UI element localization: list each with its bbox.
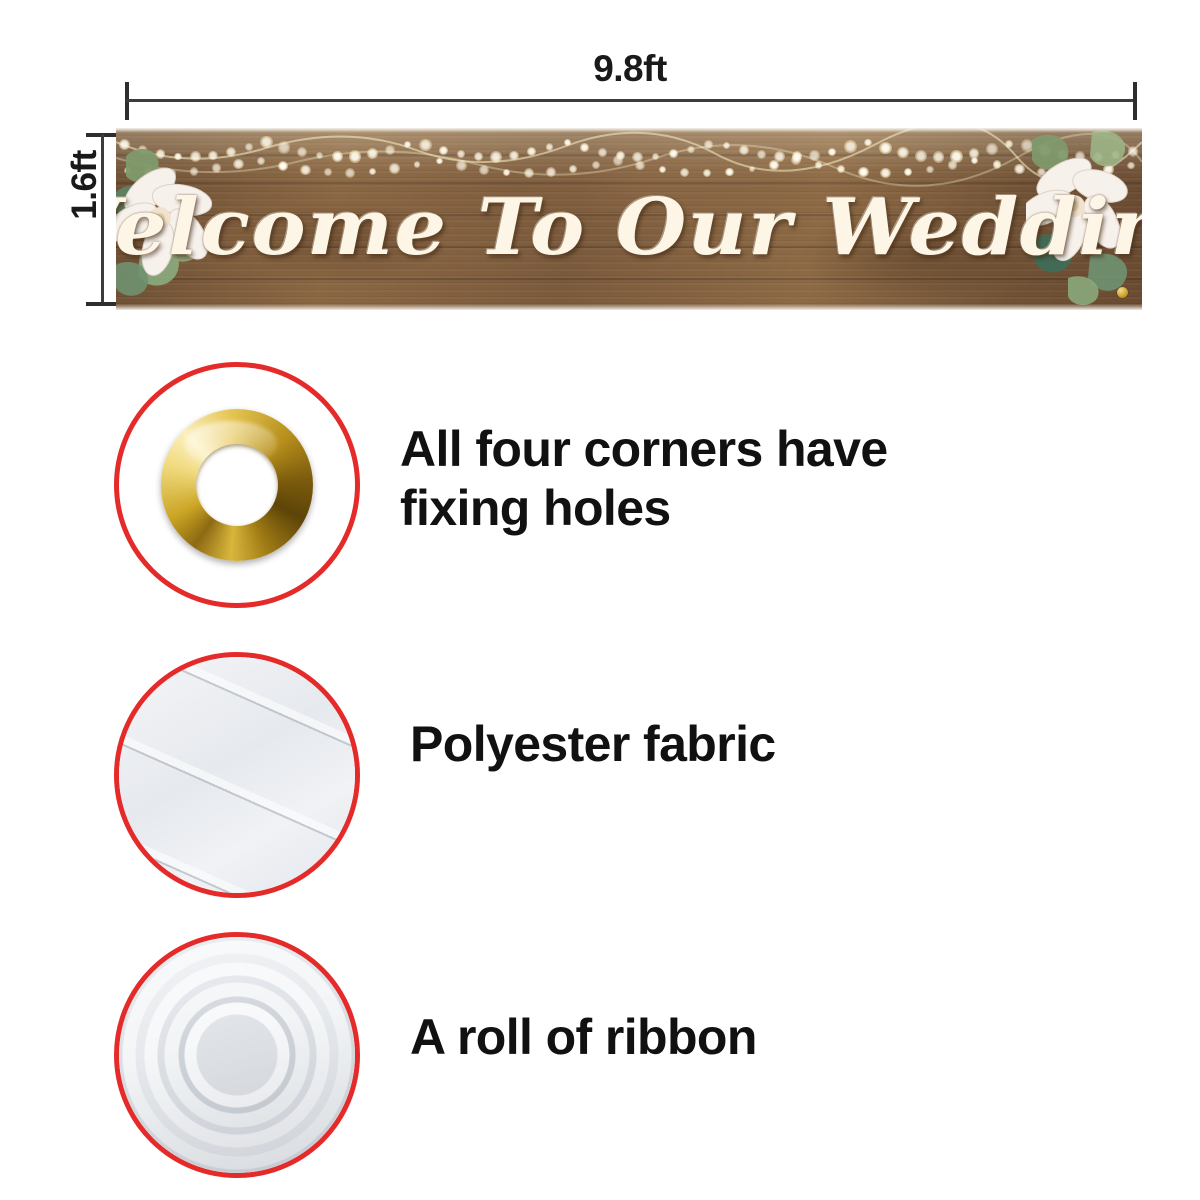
ribbon-roll-icon: [114, 932, 360, 1178]
light-bulb-icon: [815, 161, 823, 169]
banner-title: Welcome To Our Wedding: [116, 172, 1142, 282]
light-bulb-icon: [858, 167, 869, 178]
light-bulb-icon: [419, 139, 432, 152]
light-bulb-icon: [669, 149, 678, 158]
light-bulb-icon: [592, 161, 600, 169]
light-bulb-icon: [439, 146, 448, 155]
light-bulb-icon: [792, 151, 803, 162]
grommet-hole: [196, 444, 278, 526]
light-bulb-icon: [969, 148, 980, 159]
light-bulb-icon: [479, 165, 489, 175]
light-bulb-icon: [414, 161, 421, 168]
light-bulb-icon: [704, 140, 713, 149]
light-bulb-icon: [385, 145, 395, 155]
light-bulb-icon: [749, 166, 755, 172]
fabric-texture-art: [119, 657, 355, 893]
height-dimension-bottom-cap: [86, 302, 120, 306]
light-bulb-icon: [993, 160, 1002, 169]
light-bulb-icon: [456, 160, 467, 171]
light-bulb-icon: [926, 166, 933, 173]
light-bulb-icon: [1014, 164, 1025, 175]
light-bulb-icon: [837, 165, 845, 173]
fabric-swatch-icon: [114, 652, 360, 898]
grommet-icon: [114, 362, 360, 608]
feature-label-line-1: Polyester fabric: [410, 715, 1070, 774]
string-lights-glow: [116, 128, 1142, 186]
light-bulb-icon: [725, 168, 734, 177]
light-bulb-icon: [659, 166, 666, 173]
light-bulb-icon: [757, 150, 766, 159]
width-dimension-right-cap: [1133, 82, 1137, 120]
light-bulb-icon: [844, 140, 857, 153]
light-bulb-icon: [1005, 140, 1013, 148]
light-bulb-icon: [971, 157, 978, 164]
light-bulb-icon: [933, 151, 944, 162]
light-bulb-icon: [457, 150, 466, 159]
feature-label-line-1: All four corners have: [400, 420, 1060, 479]
light-bulb-icon: [324, 168, 332, 176]
light-bulb-icon: [332, 151, 343, 162]
light-bulb-icon: [490, 151, 502, 163]
feature-label-polyester-fabric: Polyester fabric: [410, 715, 1070, 774]
flower-right-icon: [1026, 128, 1142, 308]
flower-left-icon: [116, 134, 250, 310]
light-bulb-icon: [297, 147, 307, 157]
light-bulb-icon: [791, 155, 801, 165]
light-bulb-icon: [349, 150, 362, 163]
light-bulb-icon: [880, 168, 891, 179]
light-bulb-icon: [652, 153, 660, 161]
light-bulb-icon: [546, 143, 554, 151]
light-bulb-icon: [879, 142, 892, 155]
light-bulb-icon: [897, 147, 909, 159]
light-bulb-icon: [687, 146, 694, 153]
light-bulb-icon: [278, 161, 288, 171]
light-bulb-icon: [569, 165, 577, 173]
light-bulb-icon: [564, 139, 571, 146]
light-bulb-icon: [635, 161, 645, 171]
light-bulb-icon: [509, 151, 518, 160]
feature-label-line-1: A roll of ribbon: [410, 1008, 1070, 1067]
height-dimension-label: 1.6ft: [65, 130, 105, 240]
light-bulb-icon: [828, 148, 836, 156]
light-bulb-icon: [613, 155, 623, 165]
light-bulb-icon: [345, 168, 356, 179]
banner-title-text: Welcome To Our Wedding: [116, 182, 1142, 273]
light-bulb-icon: [915, 150, 927, 162]
light-bulb-icon: [950, 150, 963, 163]
light-bulb-icon: [723, 142, 730, 149]
light-bulb-icon: [260, 136, 273, 149]
feature-label-line-2: fixing holes: [400, 479, 1060, 538]
width-dimension-label: 9.8ft: [500, 48, 760, 90]
light-bulb-icon: [774, 151, 785, 162]
banner-top-edge: [116, 128, 1142, 133]
light-bulb-icon: [546, 167, 557, 178]
light-bulb-icon: [278, 141, 290, 153]
wedding-banner-image: Welcome To Our Wedding: [116, 128, 1142, 310]
light-bulb-icon: [864, 139, 872, 147]
light-bulb-icon: [527, 147, 536, 156]
height-dimension-line: [101, 134, 104, 306]
light-bulb-icon: [436, 158, 442, 164]
feature-label-fixing-holes: All four corners have fixing holes: [400, 420, 1060, 537]
light-bulb-icon: [474, 152, 483, 161]
product-infographic: 9.8ft 1.6ft: [0, 0, 1200, 1200]
light-bulb-icon: [389, 163, 400, 174]
light-bulb-icon: [739, 145, 749, 155]
light-bulb-icon: [904, 168, 912, 176]
light-bulb-icon: [316, 152, 323, 159]
light-bulb-icon: [680, 168, 689, 177]
light-bulb-icon: [598, 148, 606, 156]
string-lights-wire: [116, 128, 1142, 190]
light-bulb-icon: [616, 151, 625, 160]
string-lights-icon: [116, 128, 1142, 190]
banner-bottom-edge: [116, 304, 1142, 310]
light-bulb-icon: [769, 160, 778, 169]
light-bulb-icon: [503, 169, 510, 176]
grommet-ring-art: [161, 409, 313, 561]
light-bulb-icon: [809, 150, 820, 161]
banner-corner-grommet-icon: [1117, 287, 1128, 298]
light-bulb-icon: [703, 169, 712, 178]
light-bulb-icon: [369, 168, 376, 175]
light-bulb-icon: [580, 143, 589, 152]
width-dimension-line: [126, 99, 1136, 102]
light-bulb-icon: [257, 157, 266, 166]
light-bulb-icon: [404, 141, 411, 148]
ribbon-roll-shading: [119, 937, 355, 1173]
light-bulb-icon: [632, 152, 643, 163]
light-bulb-icon: [367, 148, 378, 159]
light-bulb-icon: [986, 143, 998, 155]
feature-label-roll-of-ribbon: A roll of ribbon: [410, 1008, 1070, 1067]
light-bulb-icon: [300, 165, 310, 175]
light-bulb-icon: [524, 168, 534, 178]
light-bulb-icon: [948, 160, 958, 170]
